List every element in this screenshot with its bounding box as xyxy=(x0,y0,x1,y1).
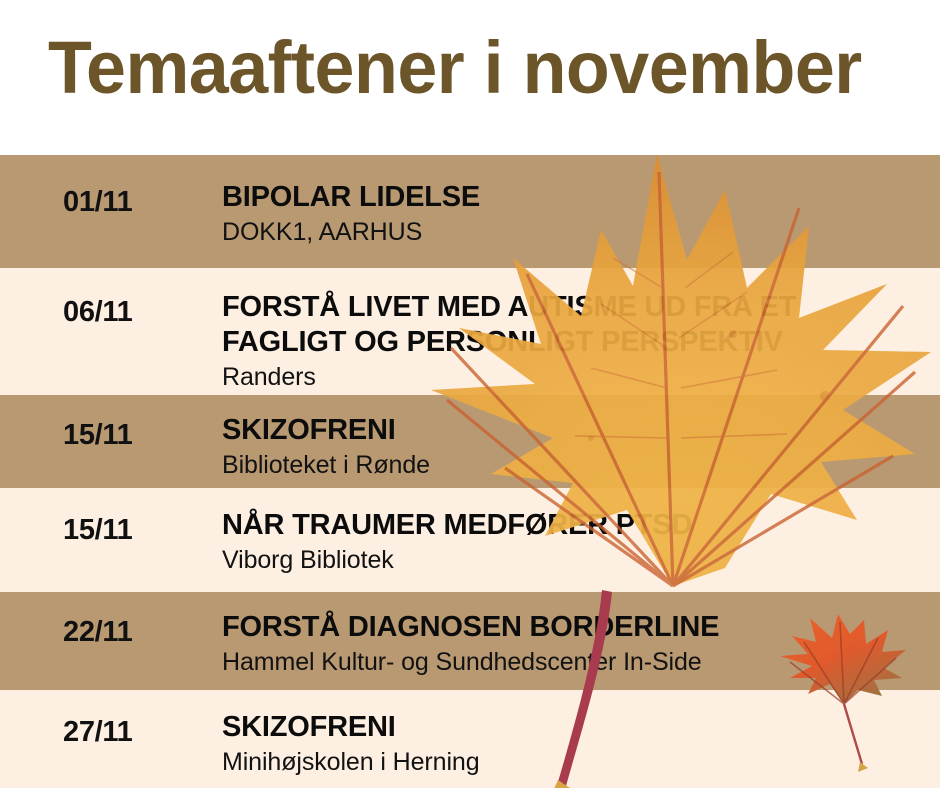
event-text-block: BIPOLAR LIDELSE DOKK1, AARHUS xyxy=(222,180,930,248)
event-date: 01/11 xyxy=(63,185,132,219)
event-date: 06/11 xyxy=(63,295,132,329)
event-title: SKIZOFRENI xyxy=(222,413,930,448)
event-title: SKIZOFRENI xyxy=(222,710,930,745)
event-text-block: SKIZOFRENI Biblioteket i Rønde xyxy=(222,413,930,481)
event-venue: Randers xyxy=(222,362,930,393)
event-venue: Biblioteket i Rønde xyxy=(222,450,930,481)
event-title: NÅR TRAUMER MEDFØRER PTSD xyxy=(222,508,930,543)
event-text-block: FORSTÅ DIAGNOSEN BORDERLINE Hammel Kultu… xyxy=(222,610,930,678)
event-title: FORSTÅ LIVET MED AUTISME UD FRA ET FAGLI… xyxy=(222,290,822,360)
schedule-row: 27/11 SKIZOFRENI Minihøjskolen i Herning xyxy=(0,690,940,788)
schedule-list: 01/11 BIPOLAR LIDELSE DOKK1, AARHUS 06/1… xyxy=(0,155,940,788)
event-venue: Minihøjskolen i Herning xyxy=(222,747,930,778)
event-date: 15/11 xyxy=(63,513,132,547)
event-text-block: NÅR TRAUMER MEDFØRER PTSD Viborg Bibliot… xyxy=(222,508,930,576)
event-venue: Hammel Kultur- og Sundhedscenter In-Side xyxy=(222,647,930,678)
event-text-block: FORSTÅ LIVET MED AUTISME UD FRA ET FAGLI… xyxy=(222,290,930,393)
event-date: 22/11 xyxy=(63,615,132,649)
poster-canvas: 01/11 BIPOLAR LIDELSE DOKK1, AARHUS 06/1… xyxy=(0,0,940,788)
schedule-row: 15/11 SKIZOFRENI Biblioteket i Rønde xyxy=(0,395,940,488)
schedule-row: 22/11 FORSTÅ DIAGNOSEN BORDERLINE Hammel… xyxy=(0,592,940,690)
event-title: FORSTÅ DIAGNOSEN BORDERLINE xyxy=(222,610,930,645)
poster-header: Temaaftener i november xyxy=(0,0,940,155)
schedule-row: 06/11 FORSTÅ LIVET MED AUTISME UD FRA ET… xyxy=(0,268,940,395)
schedule-row: 15/11 NÅR TRAUMER MEDFØRER PTSD Viborg B… xyxy=(0,488,940,592)
event-date: 15/11 xyxy=(63,418,132,452)
event-venue: Viborg Bibliotek xyxy=(222,545,930,576)
schedule-row: 01/11 BIPOLAR LIDELSE DOKK1, AARHUS xyxy=(0,155,940,268)
event-date: 27/11 xyxy=(63,715,132,749)
event-title: BIPOLAR LIDELSE xyxy=(222,180,930,215)
event-text-block: SKIZOFRENI Minihøjskolen i Herning xyxy=(222,710,930,778)
event-venue: DOKK1, AARHUS xyxy=(222,217,930,248)
page-title: Temaaftener i november xyxy=(48,26,862,110)
